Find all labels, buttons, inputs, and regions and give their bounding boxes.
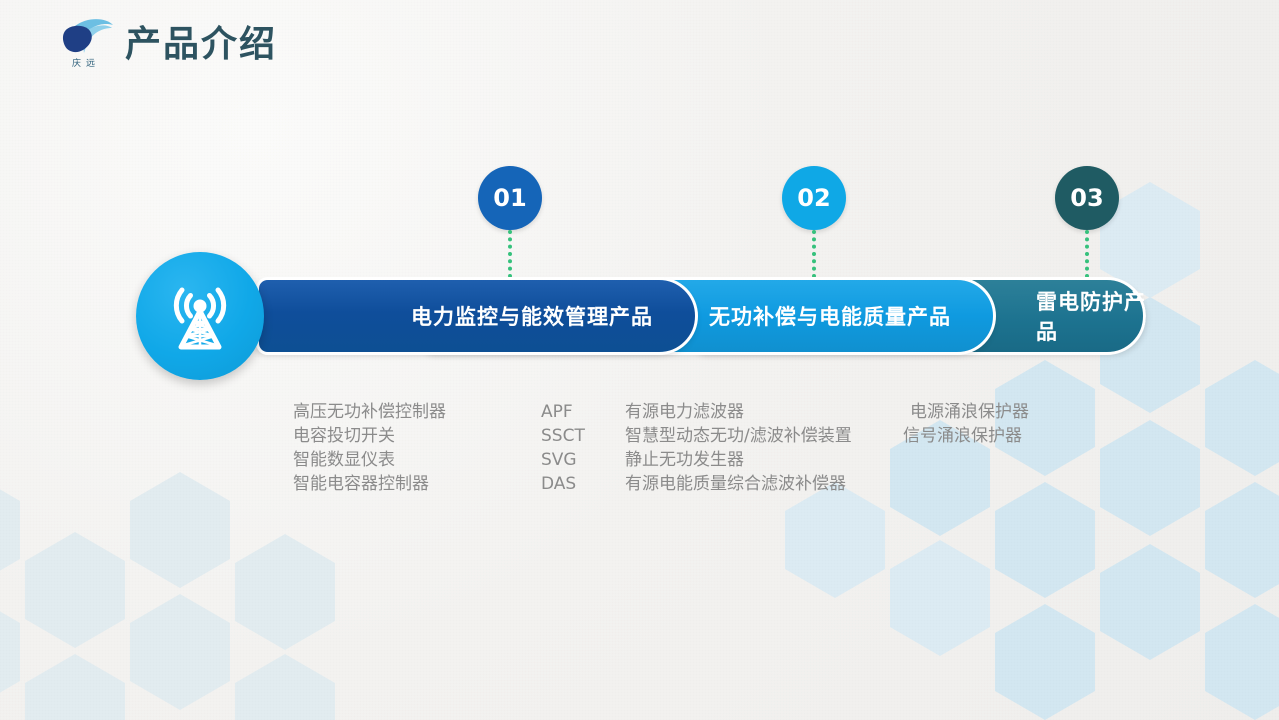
badge-01[interactable]: 01 (478, 166, 542, 230)
list-item: DAS (541, 472, 585, 496)
logo-caption: 庆远 (57, 56, 115, 69)
list-item: APF (541, 400, 585, 424)
product-category-ribbon: 雷电防护产品 无功补偿与电能质量产品 电力监控与能效管理产品 (136, 252, 1146, 380)
broadcast-tower-icon-circle[interactable] (136, 252, 264, 380)
qingyuan-logo: 庆远 (55, 12, 117, 70)
ribbon-segment-power-monitoring[interactable]: 电力监控与能效管理产品 (256, 280, 696, 352)
slide-canvas: 庆远 产品介绍 01 02 03 雷电防护产品 无功补偿与电能质量产品 电力监控… (0, 0, 1279, 720)
list-item: SSCT (541, 424, 585, 448)
slide-header: 庆远 产品介绍 (55, 8, 277, 74)
badge-02[interactable]: 02 (782, 166, 846, 230)
list-item: 电容投切开关 (293, 424, 446, 448)
product-list-column-3: 有源电力滤波器 智慧型动态无功/滤波补偿装置 静止无功发生器 有源电能质量综合滤… (625, 400, 852, 496)
badge-03-label: 03 (1070, 184, 1103, 212)
ribbon-segment-1-label: 电力监控与能效管理产品 (411, 301, 653, 331)
badge-03[interactable]: 03 (1055, 166, 1119, 230)
product-list-column-2-abbreviations: APF SSCT SVG DAS (541, 400, 585, 496)
list-item: 有源电能质量综合滤波补偿器 (625, 472, 852, 496)
ribbon-segment-3-label: 雷电防护产品 (1036, 286, 1146, 346)
list-item: SVG (541, 448, 585, 472)
product-list-column-4: 电源涌浪保护器 信号涌浪保护器 (910, 400, 1029, 448)
ribbon-segment-2-label: 无功补偿与电能质量产品 (709, 301, 951, 331)
list-item: 智能数显仪表 (293, 448, 446, 472)
list-item: 智能电容器控制器 (293, 472, 446, 496)
list-item: 静止无功发生器 (625, 448, 852, 472)
list-item: 高压无功补偿控制器 (293, 400, 446, 424)
badge-01-label: 01 (493, 184, 526, 212)
product-list-column-1: 高压无功补偿控制器 电容投切开关 智能数显仪表 智能电容器控制器 (293, 400, 446, 496)
list-item: 电源涌浪保护器 (910, 400, 1029, 424)
list-item: 信号涌浪保护器 (903, 424, 1029, 448)
broadcast-tower-icon (163, 279, 237, 353)
list-item: 智慧型动态无功/滤波补偿装置 (625, 424, 852, 448)
badge-02-label: 02 (797, 184, 830, 212)
page-title: 产品介绍 (125, 15, 277, 67)
list-item: 有源电力滤波器 (625, 400, 852, 424)
